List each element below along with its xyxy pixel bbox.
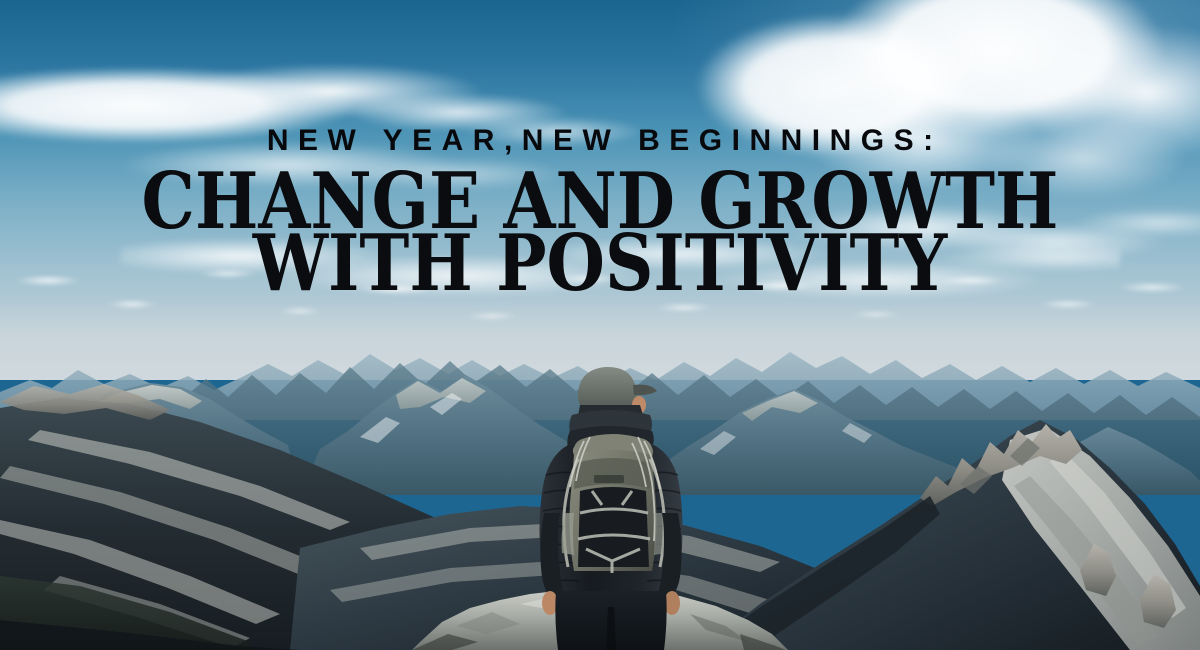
hero-banner: NEW YEAR,NEW BEGINNINGS: CHANGE AND GROW…	[0, 0, 1200, 650]
hiker-figure	[520, 363, 710, 650]
backpack-brand-patch	[594, 475, 624, 483]
cloud-upper-left-secondary	[80, 120, 600, 210]
hiker-cap	[578, 367, 637, 408]
